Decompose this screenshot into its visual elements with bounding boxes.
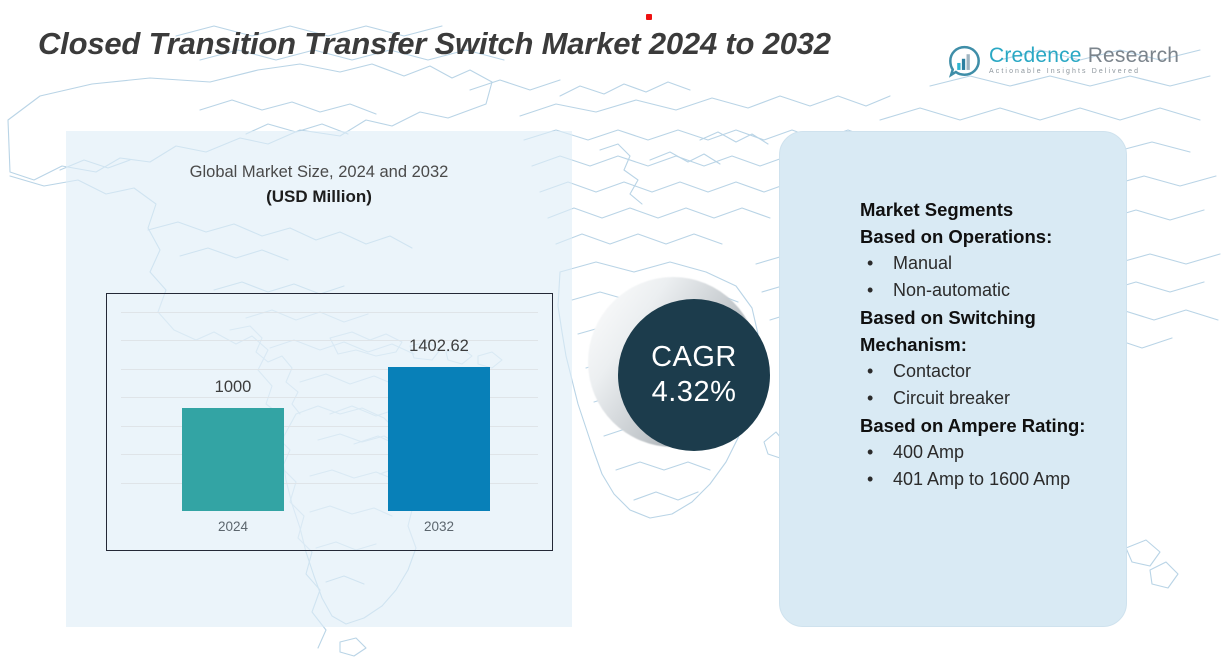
segment-item-label: Non-automatic [893, 280, 1010, 300]
red-dot-marker [646, 14, 652, 20]
logo-tagline: Actionable Insights Delivered [989, 67, 1179, 77]
page-title: Closed Transition Transfer Switch Market… [38, 22, 943, 65]
segment-heading-switching-mechanism: Based on Switching Mechanism: [860, 304, 1110, 358]
credence-bar-chart-bubble-icon [948, 45, 981, 78]
bullet-icon: • [867, 385, 873, 412]
bar-2032[interactable] [388, 367, 490, 511]
bar-value-label-2024: 1000 [152, 378, 314, 397]
logo-company-name: Credence Research [989, 45, 1179, 67]
bullet-icon: • [867, 250, 873, 277]
logo-name-credence: Credence [989, 44, 1082, 67]
bar-category-label-2024: 2024 [152, 519, 314, 534]
segment-item-label: 400 Amp [893, 442, 964, 462]
bar-category-label-2032: 2032 [358, 519, 520, 534]
segment-item-label: Manual [893, 253, 952, 273]
bullet-icon: • [867, 277, 873, 304]
bullet-icon: • [867, 358, 873, 385]
segment-item-label: 401 Amp to 1600 Amp [893, 469, 1070, 489]
cagr-circle: CAGR 4.32% [618, 299, 770, 451]
segment-heading-operations: Based on Operations: [860, 223, 1110, 250]
segment-item-non-automatic: •Non-automatic [860, 277, 1110, 304]
segments-title: Market Segments [860, 196, 1110, 223]
bar-group-2024[interactable]: 1000 2024 [182, 408, 284, 511]
brand-logo[interactable]: Credence Research Actionable Insights De… [948, 40, 1160, 82]
cagr-value: 4.32% [652, 374, 737, 410]
cagr-badge: CAGR 4.32% [588, 277, 788, 477]
bar-2024[interactable] [182, 408, 284, 511]
segment-item-contactor: •Contactor [860, 358, 1110, 385]
segment-item-label: Contactor [893, 361, 971, 381]
segment-item-manual: •Manual [860, 250, 1110, 277]
bar-value-label-2032: 1402.62 [358, 337, 520, 356]
cagr-label: CAGR [651, 340, 737, 374]
logo-name-research: Research [1082, 44, 1180, 67]
segment-item-circuit-breaker: •Circuit breaker [860, 385, 1110, 412]
bar-group-2032[interactable]: 1402.62 2032 [388, 367, 490, 511]
bullet-icon: • [867, 439, 873, 466]
chart-caption-units: (USD Million) [66, 185, 572, 209]
bullet-icon: • [867, 466, 873, 493]
market-segments-list: Market Segments Based on Operations: •Ma… [860, 196, 1110, 493]
chart-caption-primary: Global Market Size, 2024 and 2032 [66, 161, 572, 183]
segment-item-401-to-1600-amp: •401 Amp to 1600 Amp [860, 466, 1110, 493]
segment-item-label: Circuit breaker [893, 388, 1010, 408]
segment-heading-ampere-rating: Based on Ampere Rating: [860, 412, 1110, 439]
chart-plot-area: 1000 2024 1402.62 2032 [107, 294, 552, 550]
chart-caption: Global Market Size, 2024 and 2032 (USD M… [66, 161, 572, 209]
segment-item-400-amp: •400 Amp [860, 439, 1110, 466]
logo-text: Credence Research Actionable Insights De… [989, 45, 1179, 77]
bar-chart: 1000 2024 1402.62 2032 [106, 293, 553, 551]
infographic-page: Closed Transition Transfer Switch Market… [0, 0, 1227, 658]
